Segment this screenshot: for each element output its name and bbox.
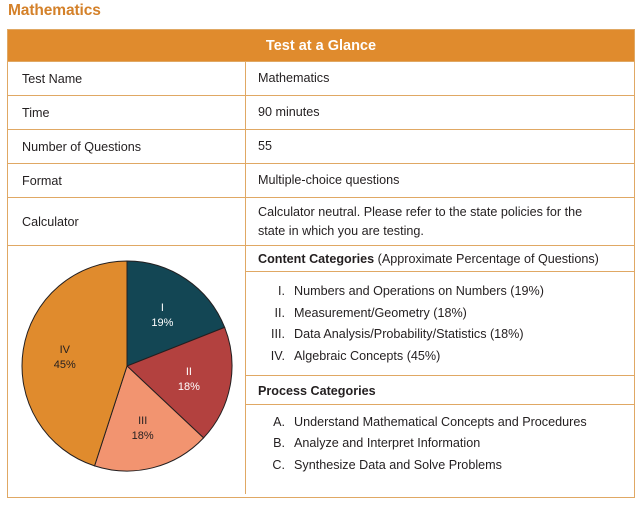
bottom-spacer	[246, 484, 634, 494]
content-categories-heading-rest: (Approximate Percentage of Questions)	[374, 252, 599, 266]
categories-section: I 19% II 18% III 18% IV 45% Content Cate…	[8, 245, 634, 494]
row-value: Multiple-choice questions	[246, 164, 634, 197]
process-categories-list: A. Understand Mathematical Concepts and …	[246, 405, 634, 484]
pie-label-I-value: 19%	[151, 317, 173, 329]
list-item-number: A.	[258, 412, 294, 434]
list-item-number: B.	[258, 433, 294, 455]
row-value: Mathematics	[246, 62, 634, 95]
list-item-label: Understand Mathematical Concepts and Pro…	[294, 412, 624, 434]
table-row: Calculator Calculator neutral. Please re…	[8, 197, 634, 245]
list-item: B. Analyze and Interpret Information	[258, 433, 624, 455]
list-item: II. Measurement/Geometry (18%)	[258, 303, 624, 325]
row-label: Time	[8, 96, 246, 129]
pie-label-I-name: I	[161, 302, 164, 314]
list-item: III. Data Analysis/Probability/Statistic…	[258, 324, 624, 346]
test-at-a-glance-table: Test at a Glance Test Name Mathematics T…	[7, 29, 635, 498]
list-item-number: I.	[258, 281, 294, 303]
table-header: Test at a Glance	[8, 30, 634, 61]
table-row: Test Name Mathematics	[8, 61, 634, 95]
list-item-label: Numbers and Operations on Numbers (19%)	[294, 281, 624, 303]
calculator-policy-text: Calculator neutral. Please refer to the …	[258, 203, 603, 240]
pie-chart-svg: I 19% II 18% III 18% IV 45%	[16, 253, 238, 479]
content-categories-list: I. Numbers and Operations on Numbers (19…	[246, 272, 634, 375]
pie-label-IV-value: 45%	[54, 359, 76, 371]
table-header-label: Test at a Glance	[266, 38, 376, 54]
list-item-label: Synthesize Data and Solve Problems	[294, 455, 624, 477]
list-item-label: Algebraic Concepts (45%)	[294, 346, 624, 368]
table-row: Format Multiple-choice questions	[8, 163, 634, 197]
pie-label-III-value: 18%	[132, 430, 154, 442]
pie-label-III-name: III	[138, 415, 147, 427]
list-item-label: Analyze and Interpret Information	[294, 433, 624, 455]
row-value: Calculator neutral. Please refer to the …	[246, 198, 634, 245]
row-label: Number of Questions	[8, 130, 246, 163]
row-label: Calculator	[8, 198, 246, 245]
pie-chart-cell: I 19% II 18% III 18% IV 45%	[8, 246, 246, 494]
pie-label-II-value: 18%	[178, 381, 200, 393]
row-value: 55	[246, 130, 634, 163]
row-label: Test Name	[8, 62, 246, 95]
process-categories-heading: Process Categories	[246, 375, 634, 405]
list-item: C. Synthesize Data and Solve Problems	[258, 455, 624, 477]
list-item-number: C.	[258, 455, 294, 477]
list-item-label: Data Analysis/Probability/Statistics (18…	[294, 324, 624, 346]
list-item-number: IV.	[258, 346, 294, 368]
pie-label-IV-name: IV	[60, 344, 71, 356]
list-item: A. Understand Mathematical Concepts and …	[258, 412, 624, 434]
content-categories-pie-chart: I 19% II 18% III 18% IV 45%	[16, 253, 238, 479]
table-row: Time 90 minutes	[8, 95, 634, 129]
row-value: 90 minutes	[246, 96, 634, 129]
pie-label-II-name: II	[186, 366, 192, 378]
page-title: Mathematics	[8, 2, 101, 20]
content-categories-heading-bold: Content Categories	[258, 252, 374, 266]
list-item-label: Measurement/Geometry (18%)	[294, 303, 624, 325]
content-categories-heading: Content Categories (Approximate Percenta…	[246, 246, 634, 272]
list-item: I. Numbers and Operations on Numbers (19…	[258, 281, 624, 303]
list-item-number: III.	[258, 324, 294, 346]
list-item: IV. Algebraic Concepts (45%)	[258, 346, 624, 368]
row-label: Format	[8, 164, 246, 197]
list-item-number: II.	[258, 303, 294, 325]
test-at-a-glance-page: Mathematics Test at a Glance Test Name M…	[0, 0, 642, 505]
categories-text-cell: Content Categories (Approximate Percenta…	[246, 246, 634, 494]
table-row: Number of Questions 55	[8, 129, 634, 163]
